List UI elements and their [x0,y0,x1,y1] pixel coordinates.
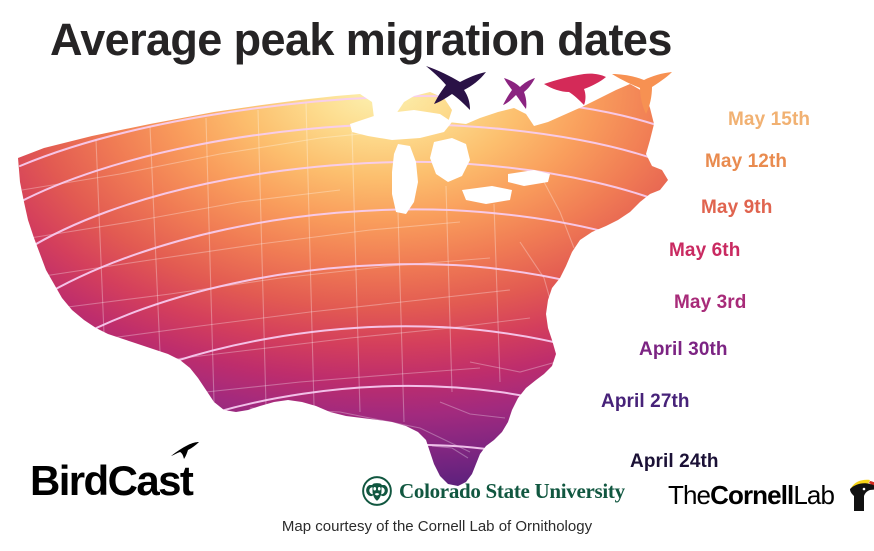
bird-silhouette-2 [503,78,535,109]
legend-label-may-9: May 9th [701,197,772,219]
woodpecker-icon [837,478,874,512]
cornell-lab-logo: TheCornellLab [668,478,874,512]
cornell-prefix: The [668,480,710,510]
cornell-emphasis: Cornell [710,480,793,510]
legend-label-may-3: May 3rd [674,292,747,314]
csu-ram-icon [362,476,392,506]
legend-label-april-24: April 24th [630,451,719,473]
bird-silhouette-1 [426,66,486,110]
colorado-state-university-logo: Colorado State University [362,476,625,506]
bird-silhouettes-group [420,60,680,120]
birdcast-bird-icon [170,442,200,460]
legend-label-may-15: May 15th [728,109,810,131]
legend-label-may-6: May 6th [669,240,740,262]
legend-label-may-12: May 12th [705,151,787,173]
birds-svg [420,60,680,120]
csu-wordmark: Colorado State University [399,479,625,504]
birdcast-wordmark: BirdCast [30,460,192,502]
page-title: Average peak migration dates [50,14,672,66]
us-migration-map [0,62,720,512]
migration-map-infographic: Average peak migration dates [0,0,874,551]
map-caption: Map courtesy of the Cornell Lab of Ornit… [0,518,874,535]
cornell-suffix: Lab [793,480,834,510]
legend-label-april-30: April 30th [639,339,728,361]
bird-silhouette-3 [544,74,606,105]
birdcast-logo: BirdCast [30,460,192,502]
cornell-lab-wordmark: TheCornellLab [668,482,834,508]
bird-silhouette-4 [612,72,672,114]
legend-label-april-27: April 27th [601,391,690,413]
map-svg [0,62,720,512]
map-gradient-fill [0,62,720,512]
